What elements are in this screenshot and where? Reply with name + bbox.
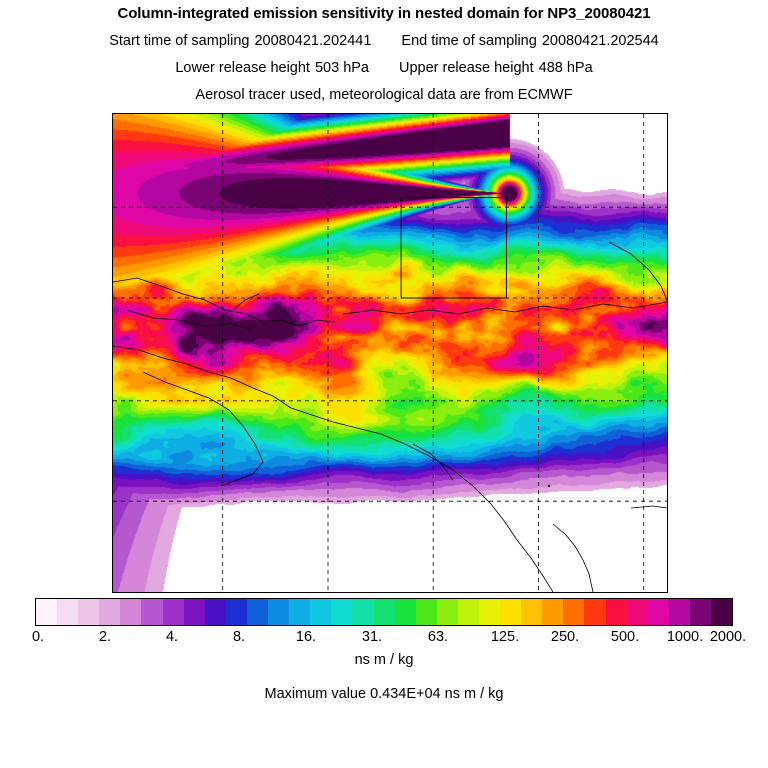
end-time-label: End time of sampling (401, 33, 536, 49)
colorbar-cell (606, 599, 627, 625)
colorbar-cell (479, 599, 500, 625)
upper-release-height-label: Upper release height (399, 60, 534, 76)
colorbar-cell (57, 599, 78, 625)
colorbar-cell (500, 599, 521, 625)
colorbar-cell (352, 599, 373, 625)
colorbar-cell (374, 599, 395, 625)
colorbar-tick-label: 2000. (710, 629, 746, 645)
colorbar-tick-label: 16. (296, 629, 316, 645)
colorbar-tick-label: 0. (32, 629, 44, 645)
lower-release-height-value: 503 hPa (315, 60, 369, 76)
lower-release-height-label: Lower release height (175, 60, 310, 76)
colorbar-cell (584, 599, 605, 625)
colorbar-cell (141, 599, 162, 625)
start-time-label: Start time of sampling (109, 33, 249, 49)
colorbar-tick-label: 63. (428, 629, 448, 645)
colorbar-cell (184, 599, 205, 625)
colorbar (35, 598, 733, 626)
colorbar-cell (247, 599, 268, 625)
colorbar-cell (563, 599, 584, 625)
upper-release-height-value: 488 hPa (539, 60, 593, 76)
colorbar-tick-labels: 0.2.4.8.16.31.63.125.250.500.1000.2000. (0, 629, 768, 647)
colorbar-tick-label: 4. (166, 629, 178, 645)
colorbar-tick-label: 250. (551, 629, 579, 645)
graticule-overlay (113, 114, 667, 592)
colorbar-cell (648, 599, 669, 625)
colorbar-cell (711, 599, 732, 625)
start-time-value: 20080421.202441 (254, 33, 371, 49)
colorbar-tick-label: 8. (233, 629, 245, 645)
plot-figure: Column-integrated emission sensitivity i… (0, 0, 768, 768)
colorbar-cell (120, 599, 141, 625)
colorbar-tick-label: 500. (611, 629, 639, 645)
colorbar-cell (36, 599, 57, 625)
colorbar-tick-label: 125. (491, 629, 519, 645)
tracer-info-line: Aerosol tracer used, meteorological data… (0, 87, 768, 103)
end-time-value: 20080421.202544 (542, 33, 659, 49)
colorbar-cell (521, 599, 542, 625)
colorbar-cell (99, 599, 120, 625)
colorbar-cell (437, 599, 458, 625)
colorbar-cell (78, 599, 99, 625)
colorbar-cell (395, 599, 416, 625)
colorbar-tick-label: 2. (99, 629, 111, 645)
colorbar-cell (205, 599, 226, 625)
colorbar-cell (627, 599, 648, 625)
colorbar-cell (310, 599, 331, 625)
colorbar-unit-label: ns m / kg (0, 652, 768, 668)
sampling-time-line: Start time of sampling20080421.202441End… (0, 33, 768, 49)
colorbar-cell (331, 599, 352, 625)
map-panel (112, 113, 668, 593)
colorbar-cell (542, 599, 563, 625)
colorbar-cell (289, 599, 310, 625)
release-height-line: Lower release height503 hPaUpper release… (0, 60, 768, 76)
maximum-value-label: Maximum value 0.434E+04 ns m / kg (0, 686, 768, 702)
colorbar-cell (458, 599, 479, 625)
colorbar-cell (268, 599, 289, 625)
colorbar-cell (669, 599, 690, 625)
colorbar-cell (163, 599, 184, 625)
colorbar-cell (416, 599, 437, 625)
colorbar-tick-label: 1000. (667, 629, 703, 645)
colorbar-cell (690, 599, 711, 625)
colorbar-cell (226, 599, 247, 625)
page-title: Column-integrated emission sensitivity i… (0, 5, 768, 22)
colorbar-tick-label: 31. (362, 629, 382, 645)
